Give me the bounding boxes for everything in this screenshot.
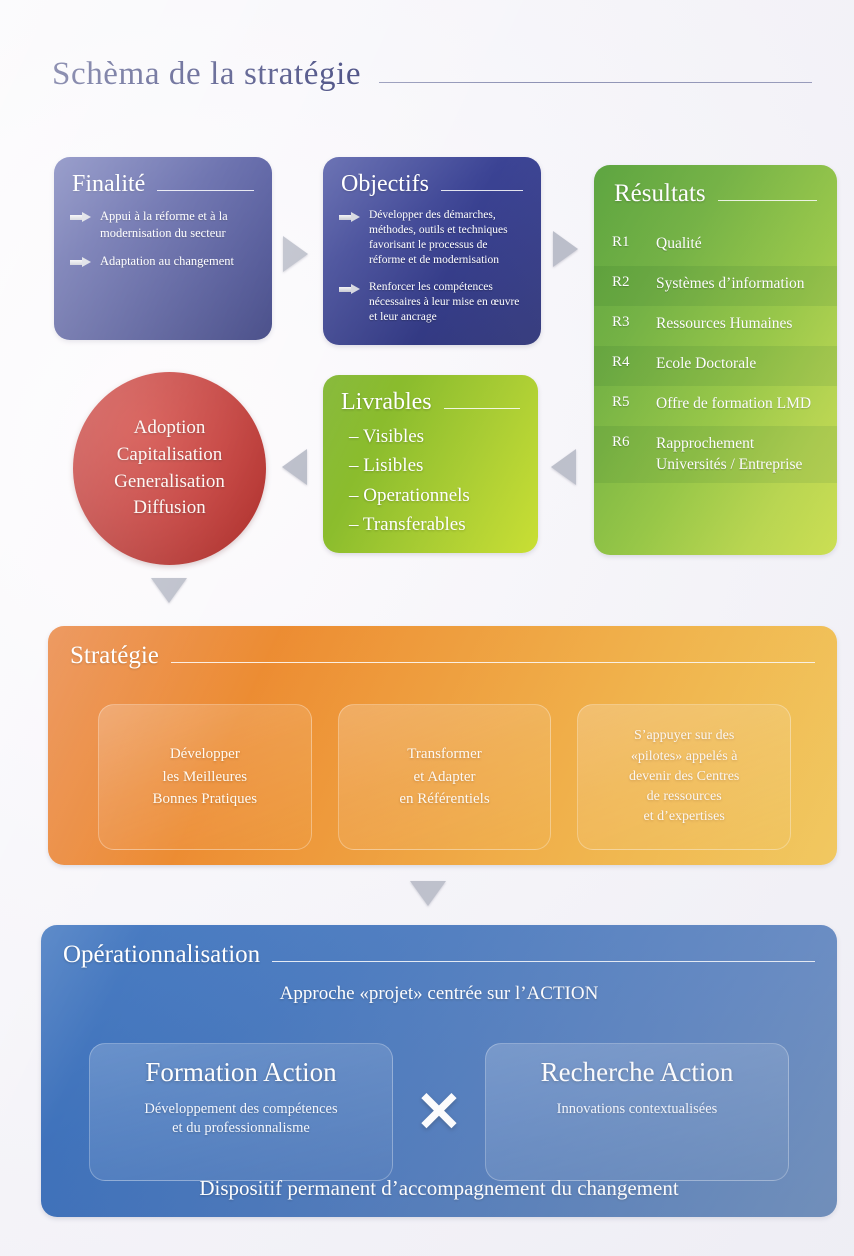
strategie-card-text: S’appuyer sur des«pilotes» appelés àdeve…: [629, 726, 739, 827]
adoption-circle-text: Adoption Capitalisation Generalisation D…: [114, 415, 225, 521]
table-row: R6 Rapprochement Universités / Entrepris…: [594, 426, 837, 483]
finalite-heading-rule: [157, 190, 254, 191]
operationnalisation-heading-rule: [272, 961, 815, 962]
bullet-arrow-icon: [70, 212, 91, 223]
bullet-arrow-icon: [339, 212, 360, 223]
objectifs-heading-row: Objectifs: [323, 157, 541, 198]
list-item: – Visibles: [349, 422, 520, 451]
list-item: – Lisibles: [349, 451, 520, 480]
strategie-card-2: Transformeret Adapteren Référentiels: [338, 704, 552, 850]
list-item-label: Adaptation au changement: [100, 253, 234, 270]
formation-action-card: Formation Action Développement des compé…: [89, 1043, 393, 1181]
strategie-card-1: Développerles MeilleuresBonnes Pratiques: [98, 704, 312, 850]
operationnalisation-heading: Opérationnalisation: [63, 941, 260, 969]
arrow-left-icon: [282, 449, 307, 485]
strategie-heading-rule: [171, 662, 815, 663]
list-item-label: Développer des démarches, méthodes, outi…: [369, 208, 525, 268]
list-item: – Operationnels: [349, 481, 520, 510]
arrow-down-icon: [410, 881, 446, 906]
list-item: Appui à la réforme et à la modernisation…: [70, 208, 256, 241]
result-code: R5: [612, 394, 656, 411]
strategie-card-3: S’appuyer sur des«pilotes» appelés àdeve…: [577, 704, 791, 850]
table-row: R1 Qualité: [594, 226, 837, 266]
resultats-heading-row: Résultats: [594, 165, 837, 208]
circle-line: Generalisation: [114, 469, 225, 496]
operationnalisation-cards: Formation Action Développement des compé…: [89, 1043, 789, 1181]
objectifs-card: Objectifs Développer des démarches, méth…: [323, 157, 541, 345]
strategie-card-text: Développerles MeilleuresBonnes Pratiques: [153, 743, 258, 811]
livrables-heading: Livrables: [341, 389, 432, 416]
recherche-action-subtitle: Innovations contextualisées: [498, 1100, 776, 1120]
operationnalisation-heading-row: Opérationnalisation: [41, 925, 837, 969]
result-code: R4: [612, 354, 656, 371]
circle-line: Adoption: [114, 415, 225, 442]
list-item: Renforcer les compétences nécessaires à …: [339, 280, 525, 325]
result-label: Offre de formation LMD: [656, 394, 811, 415]
result-label: Ecole Doctorale: [656, 354, 756, 375]
list-item-label: Appui à la réforme et à la modernisation…: [100, 208, 256, 241]
arrow-right-icon: [283, 236, 308, 272]
result-label: Systèmes d’information: [656, 274, 805, 295]
operationnalisation-subtitle: Approche «projet» centrée sur l’ACTION: [41, 983, 837, 1005]
page-title: Schèma de la stratégie: [52, 56, 812, 93]
diagram-page: Schèma de la stratégie Finalité Appui à …: [0, 0, 854, 1256]
finalite-heading: Finalité: [72, 171, 145, 198]
recherche-action-card: Recherche Action Innovations contextuali…: [485, 1043, 789, 1181]
strategie-heading-row: Stratégie: [48, 626, 837, 670]
table-row: R3 Ressources Humaines: [594, 306, 837, 346]
bullet-arrow-icon: [70, 257, 91, 268]
bullet-arrow-icon: [339, 284, 360, 295]
circle-line: Diffusion: [114, 495, 225, 522]
finalite-heading-row: Finalité: [54, 157, 272, 198]
arrow-right-icon: [553, 231, 578, 267]
recherche-action-title: Recherche Action: [498, 1058, 776, 1088]
finalite-card: Finalité Appui à la réforme et à la mode…: [54, 157, 272, 340]
objectifs-bullets: Développer des démarches, méthodes, outi…: [323, 198, 541, 339]
strategie-heading: Stratégie: [70, 642, 159, 670]
formation-action-title: Formation Action: [102, 1058, 380, 1088]
adoption-circle: Adoption Capitalisation Generalisation D…: [73, 372, 266, 565]
page-title-text: Schèma de la stratégie: [52, 56, 361, 93]
arrow-down-icon: [151, 578, 187, 603]
operationnalisation-footer: Dispositif permanent d’accompagnement du…: [41, 1176, 837, 1201]
table-row: R2 Systèmes d’information: [594, 266, 837, 306]
table-row: R4 Ecole Doctorale: [594, 346, 837, 386]
result-label: Qualité: [656, 234, 702, 255]
list-item: Adaptation au changement: [70, 253, 256, 270]
objectifs-heading-rule: [441, 190, 523, 191]
strategie-card: Stratégie Développerles MeilleuresBonnes…: [48, 626, 837, 865]
result-code: R3: [612, 314, 656, 331]
result-label: Ressources Humaines: [656, 314, 792, 335]
list-item-label: Renforcer les compétences nécessaires à …: [369, 280, 525, 325]
livrables-heading-row: Livrables: [323, 375, 538, 416]
resultats-heading: Résultats: [614, 180, 706, 208]
finalite-bullets: Appui à la réforme et à la modernisation…: [54, 198, 272, 284]
livrables-card: Livrables – Visibles – Lisibles – Operat…: [323, 375, 538, 553]
result-code: R2: [612, 274, 656, 291]
title-rule: [379, 82, 812, 83]
livrables-heading-rule: [444, 408, 520, 409]
operationnalisation-card: Opérationnalisation Approche «projet» ce…: [41, 925, 837, 1217]
multiply-icon: ✕: [393, 1043, 485, 1181]
list-item: Développer des démarches, méthodes, outi…: [339, 208, 525, 268]
formation-action-subtitle: Développement des compétenceset du profe…: [102, 1100, 380, 1139]
resultats-heading-rule: [718, 200, 817, 201]
result-code: R1: [612, 234, 656, 251]
strategie-cards: Développerles MeilleuresBonnes Pratiques…: [98, 704, 791, 850]
arrow-left-icon: [551, 449, 576, 485]
objectifs-heading: Objectifs: [341, 171, 429, 198]
resultats-list: R1 Qualité R2 Systèmes d’information R3 …: [594, 226, 837, 483]
livrables-list: – Visibles – Lisibles – Operationnels – …: [323, 416, 538, 553]
strategie-card-text: Transformeret Adapteren Référentiels: [399, 743, 489, 811]
table-row: R5 Offre de formation LMD: [594, 386, 837, 426]
result-code: R6: [612, 434, 656, 451]
result-label: Rapprochement Universités / Entreprise: [656, 434, 819, 475]
circle-line: Capitalisation: [114, 442, 225, 469]
resultats-card: Résultats R1 Qualité R2 Systèmes d’infor…: [594, 165, 837, 555]
list-item: – Transferables: [349, 510, 520, 539]
